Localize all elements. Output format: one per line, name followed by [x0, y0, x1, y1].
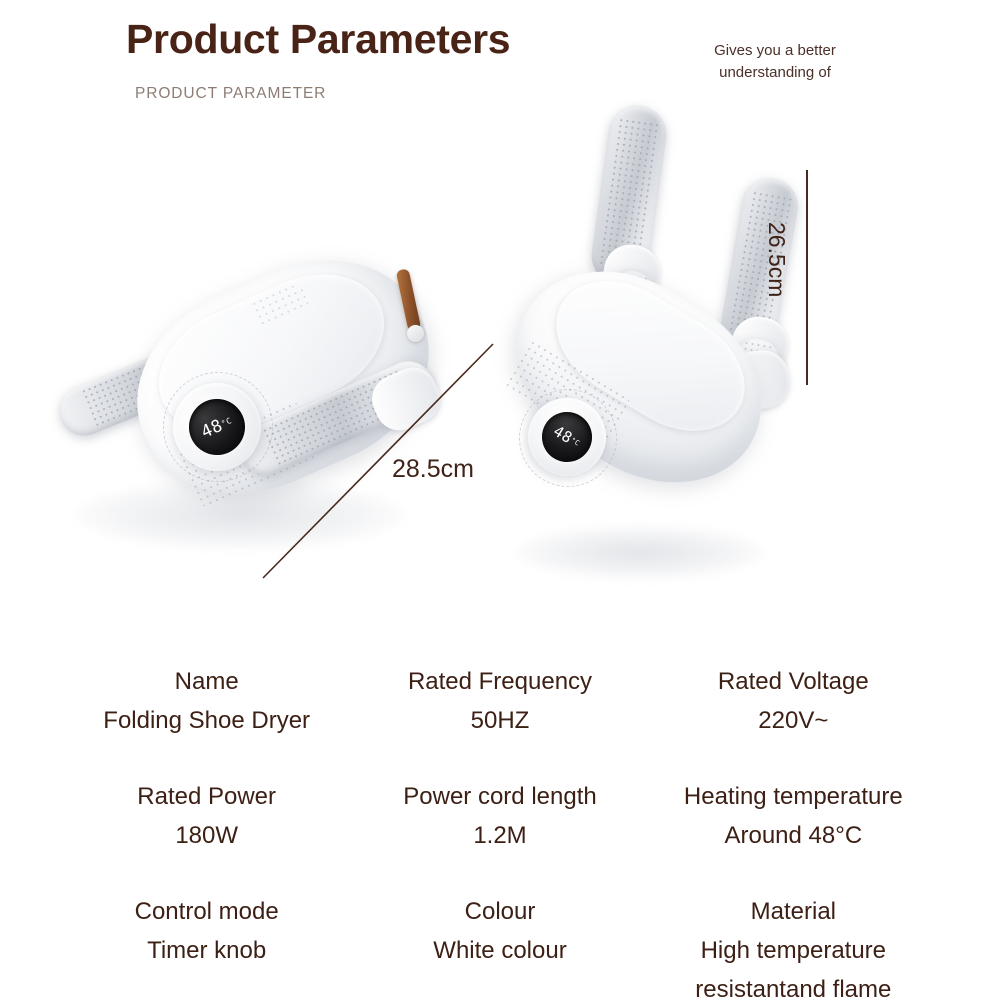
param-value: 1.2M — [353, 819, 646, 853]
param-label: Rated Power — [60, 780, 353, 814]
param-cell-heating-temperature: Heating temperature Around 48°C — [647, 780, 940, 853]
page-subtitle: PRODUCT PARAMETER — [135, 85, 326, 103]
parameters-table: Name Folding Shoe Dryer Rated Frequency … — [60, 665, 940, 1000]
temperature-unit: °C — [569, 436, 581, 447]
param-cell-material: Material High temperature resistantand f… — [647, 895, 940, 1000]
tagline: Gives you a better understanding of — [660, 40, 890, 84]
product-shadow — [515, 525, 765, 580]
param-cell-rated-power: Rated Power 180W — [60, 780, 353, 853]
param-label: Colour — [353, 895, 646, 929]
width-dimension-label: 28.5cm — [392, 455, 474, 484]
param-label: Power cord length — [353, 780, 646, 814]
param-label: Rated Voltage — [647, 665, 940, 699]
param-cell-control-mode: Control mode Timer knob — [60, 895, 353, 1000]
param-value: 50HZ — [353, 704, 646, 738]
param-label: Rated Frequency — [353, 665, 646, 699]
page-title: Product Parameters — [126, 16, 510, 63]
param-value: Timer knob — [60, 934, 353, 968]
param-cell-name: Name Folding Shoe Dryer — [60, 665, 353, 738]
param-value: Around 48°C — [647, 819, 940, 853]
param-value: 180W — [60, 819, 353, 853]
param-cell-colour: Colour White colour — [353, 895, 646, 1000]
param-label: Material — [647, 895, 940, 929]
table-row: Rated Power 180W Power cord length 1.2M … — [60, 780, 940, 853]
height-dimension-line — [806, 170, 808, 385]
product-image-unfolded: 48°C — [495, 95, 825, 555]
strap-ring — [407, 325, 424, 342]
param-cell-power-cord-length: Power cord length 1.2M — [353, 780, 646, 853]
param-value: White colour — [353, 934, 646, 968]
param-label: Heating temperature — [647, 780, 940, 814]
param-label: Control mode — [60, 895, 353, 929]
param-label: Name — [60, 665, 353, 699]
product-parameters-page: Product Parameters PRODUCT PARAMETER Giv… — [0, 0, 1000, 1000]
table-row: Control mode Timer knob Colour White col… — [60, 895, 940, 1000]
height-dimension-label: 26.5cm — [763, 222, 790, 297]
param-cell-rated-frequency: Rated Frequency 50HZ — [353, 665, 646, 738]
tagline-line-1: Gives you a better — [660, 40, 890, 62]
param-value: 220V~ — [647, 704, 940, 738]
temperature-unit: °C — [220, 417, 233, 429]
temperature-display: 48°C — [533, 403, 602, 472]
param-value-continued: resistantand flame — [647, 973, 940, 1000]
product-image-folded: 48°C — [55, 245, 495, 575]
param-cell-rated-voltage: Rated Voltage 220V~ — [647, 665, 940, 738]
table-row: Name Folding Shoe Dryer Rated Frequency … — [60, 665, 940, 738]
tagline-line-2: understanding of — [660, 62, 890, 84]
temperature-display: 48°C — [180, 390, 254, 464]
param-value: High temperature — [647, 934, 940, 968]
param-value: Folding Shoe Dryer — [60, 704, 353, 738]
